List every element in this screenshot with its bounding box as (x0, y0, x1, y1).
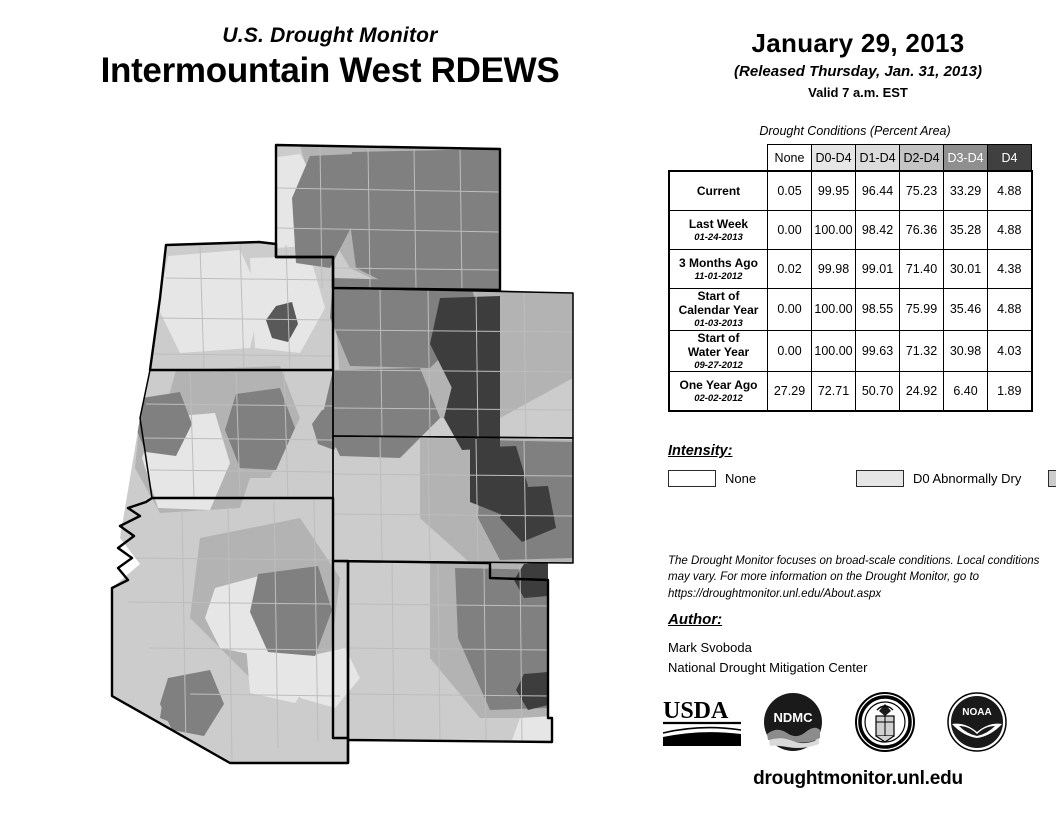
table-row: Start ofCalendar Year01-03-20130.00100.0… (669, 289, 1032, 331)
table-cell-value: 75.99 (900, 289, 944, 331)
table-cell-value: 100.00 (812, 289, 856, 331)
row-date: 02-02-2012 (670, 393, 767, 404)
table-cell-value: 96.44 (856, 171, 900, 211)
column-header-d0-d4: D0-D4 (812, 145, 856, 172)
table-cell-value: 100.00 (812, 211, 856, 250)
table-cell-value: 35.46 (944, 289, 988, 331)
table-corner-cell (669, 145, 768, 172)
table-cell-value: 4.88 (988, 289, 1032, 331)
usdoc-logo (855, 692, 915, 752)
svg-text:NOAA: NOAA (962, 707, 991, 718)
legend-swatch (668, 470, 716, 487)
program-title: U.S. Drought Monitor (0, 24, 660, 47)
table-cell-value: 100.00 (812, 330, 856, 372)
table-cell-value: 4.88 (988, 171, 1032, 211)
table-cell-value: 98.55 (856, 289, 900, 331)
ndmc-logo: NDMC (763, 692, 823, 752)
disclaimer-text: The Drought Monitor focuses on broad-sca… (668, 553, 1048, 602)
row-label: 3 Months Ago11-01-2012 (669, 250, 768, 289)
column-header-d1-d4: D1-D4 (856, 145, 900, 172)
drought-map-svg[interactable] (0, 118, 660, 808)
table-cell-value: 27.29 (768, 372, 812, 412)
legend-item: D1 Moderate Drought (1048, 466, 1056, 490)
website-url[interactable]: droughtmonitor.unl.edu (660, 768, 1056, 790)
table-cell-value: 4.88 (988, 211, 1032, 250)
row-date: 11-01-2012 (670, 271, 767, 282)
map-panel: U.S. Drought Monitor Intermountain West … (0, 0, 660, 816)
table-cell-value: 50.70 (856, 372, 900, 412)
drought-conditions-table: None D0-D4 D1-D4 D2-D4 D3-D4 D4 Current0… (668, 144, 1033, 412)
column-header-d3-d4: D3-D4 (944, 145, 988, 172)
table-row: One Year Ago02-02-201227.2972.7150.7024.… (669, 372, 1032, 412)
usda-logo: USDA (661, 696, 743, 748)
legend-label: D0 Abnormally Dry (913, 471, 1021, 486)
drought-bands (0, 118, 660, 808)
table-cell-value: 71.40 (900, 250, 944, 289)
table-cell-value: 72.71 (812, 372, 856, 412)
region-title: Intermountain West RDEWS (0, 51, 660, 91)
table-cell-value: 99.63 (856, 330, 900, 372)
logo-row: USDA NDMC NOAA (655, 692, 1051, 760)
author-affiliation: National Drought Mitigation Center (668, 658, 867, 678)
author-heading: Author: (668, 611, 722, 628)
release-date: (Released Thursday, Jan. 31, 2013) (660, 63, 1056, 80)
table-cell-value: 99.95 (812, 171, 856, 211)
table-cell-value: 30.01 (944, 250, 988, 289)
table-row: Last Week01-24-20130.00100.0098.4276.363… (669, 211, 1032, 250)
table-cell-value: 0.00 (768, 289, 812, 331)
title-block: U.S. Drought Monitor Intermountain West … (0, 24, 660, 91)
table-cell-value: 0.02 (768, 250, 812, 289)
row-label: Start ofCalendar Year01-03-2013 (669, 289, 768, 331)
table-row: Start ofWater Year09-27-20120.00100.0099… (669, 330, 1032, 372)
table-cell-value: 99.01 (856, 250, 900, 289)
drought-map[interactable] (0, 118, 660, 808)
table-caption: Drought Conditions (Percent Area) (660, 124, 1050, 138)
legend-swatch (856, 470, 904, 487)
row-label: Current (669, 171, 768, 211)
noaa-logo: NOAA (947, 692, 1007, 752)
row-label: Last Week01-24-2013 (669, 211, 768, 250)
table-cell-value: 0.00 (768, 330, 812, 372)
valid-date: January 29, 2013 (660, 28, 1056, 59)
valid-time: Valid 7 a.m. EST (660, 85, 1056, 100)
table-cell-value: 1.89 (988, 372, 1032, 412)
table-cell-value: 0.00 (768, 211, 812, 250)
table-row: Current0.0599.9596.4475.2333.294.88 (669, 171, 1032, 211)
table-cell-value: 0.05 (768, 171, 812, 211)
table-cell-value: 99.98 (812, 250, 856, 289)
table-row: 3 Months Ago11-01-20120.0299.9899.0171.4… (669, 250, 1032, 289)
row-date: 01-24-2013 (670, 232, 767, 243)
table-cell-value: 33.29 (944, 171, 988, 211)
legend-label: None (725, 471, 756, 486)
table-body: Current0.0599.9596.4475.2333.294.88Last … (669, 171, 1032, 411)
table-cell-value: 76.36 (900, 211, 944, 250)
table-cell-value: 24.92 (900, 372, 944, 412)
table-cell-value: 4.03 (988, 330, 1032, 372)
legend-swatch (1048, 470, 1056, 487)
table-cell-value: 71.32 (900, 330, 944, 372)
table-cell-value: 30.98 (944, 330, 988, 372)
row-label: One Year Ago02-02-2012 (669, 372, 768, 412)
author-name: Mark Svoboda (668, 638, 867, 658)
intensity-legend-title: Intensity: (668, 443, 732, 459)
author-block: Mark Svoboda National Drought Mitigation… (668, 638, 867, 678)
row-date: 01-03-2013 (670, 318, 767, 329)
column-header-none: None (768, 145, 812, 172)
table-cell-value: 98.42 (856, 211, 900, 250)
svg-text:NDMC: NDMC (774, 710, 814, 725)
table-cell-value: 35.28 (944, 211, 988, 250)
table-cell-value: 4.38 (988, 250, 1032, 289)
legend-item: None (668, 466, 856, 490)
intensity-legend: NoneD0 Abnormally DryD1 Moderate Drought… (668, 466, 1048, 490)
table-cell-value: 75.23 (900, 171, 944, 211)
table-cell-value: 6.40 (944, 372, 988, 412)
legend-item: D0 Abnormally Dry (856, 466, 1048, 490)
column-header-d2-d4: D2-D4 (900, 145, 944, 172)
column-header-d4: D4 (988, 145, 1032, 172)
svg-text:USDA: USDA (663, 698, 729, 724)
row-date: 09-27-2012 (670, 360, 767, 371)
date-block: January 29, 2013 (Released Thursday, Jan… (660, 28, 1056, 100)
row-label: Start ofWater Year09-27-2012 (669, 330, 768, 372)
table-header-row: None D0-D4 D1-D4 D2-D4 D3-D4 D4 (669, 145, 1032, 172)
